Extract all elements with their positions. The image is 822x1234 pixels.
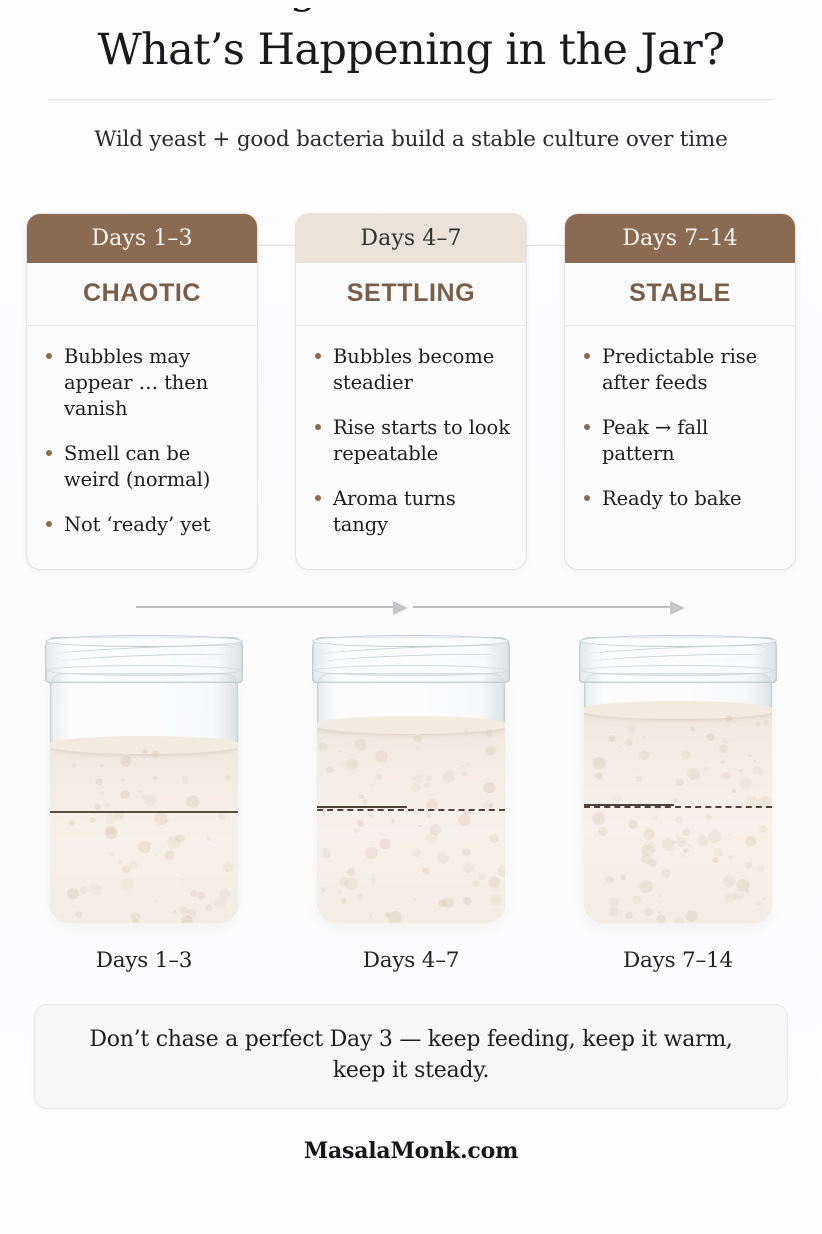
- bubble: [388, 910, 402, 923]
- bubble: [426, 811, 432, 817]
- brand-watermark: MasalaMonk.com: [0, 1138, 822, 1164]
- arrow-right-icon: [136, 601, 408, 613]
- bubble: [683, 847, 689, 853]
- bullet-dot-icon: [584, 495, 590, 501]
- bubble: [478, 872, 486, 880]
- bubble: [753, 759, 756, 762]
- bubble: [653, 815, 658, 820]
- bullet-dot-icon: [46, 353, 52, 359]
- arrow-shaft: [413, 606, 671, 607]
- bubble: [326, 765, 335, 774]
- bullet-dot-icon: [584, 424, 590, 430]
- bubble: [644, 907, 653, 916]
- bubble: [627, 724, 636, 733]
- bubble: [708, 829, 722, 843]
- list-item: Not ‘ready’ yet: [44, 512, 241, 538]
- bubble: [186, 794, 200, 808]
- bubble: [739, 768, 743, 772]
- page-subtitle: Wild yeast + good bacteria build a stabl…: [0, 127, 822, 152]
- bubble: [483, 781, 495, 793]
- bubble: [674, 916, 684, 924]
- bubble: [648, 858, 657, 867]
- bubble: [472, 879, 480, 887]
- bubble: [620, 873, 627, 880]
- bubble: [219, 887, 232, 900]
- bubble: [333, 728, 336, 731]
- bubble: [733, 719, 736, 722]
- bubble: [687, 767, 700, 780]
- stage-card-status-label: STABLE: [565, 263, 795, 326]
- bubble: [120, 789, 130, 799]
- bubble: [143, 793, 156, 806]
- bubble: [411, 782, 421, 792]
- bubble: [89, 816, 96, 823]
- bubble: [733, 888, 745, 900]
- jar-image-day4-7: [303, 629, 519, 929]
- bubble: [365, 846, 378, 859]
- bubble: [628, 819, 638, 829]
- bubble: [605, 875, 614, 884]
- bubble: [639, 749, 650, 760]
- arrow-shaft: [136, 606, 394, 607]
- list-item: Bubbles may appear … then vanish: [44, 344, 241, 422]
- bubble: [757, 864, 765, 872]
- title-clipped-line: Sourdough Starter Timeline: [0, 8, 822, 22]
- jar-caption: Days 4–7: [295, 948, 527, 973]
- bubble: [413, 897, 418, 902]
- stage-card-days-header: Days 7–14: [565, 214, 795, 263]
- bubble: [323, 850, 330, 857]
- arrow-right-icon: [413, 601, 685, 613]
- bubble: [197, 890, 206, 899]
- stage-card-days-header: Days 1–3: [27, 214, 257, 263]
- bubble: [598, 826, 608, 836]
- bubble: [118, 859, 124, 865]
- list-item: Predictable rise after feeds: [582, 344, 779, 396]
- jar-illustrations: Days 1–3 Days 4–7: [0, 629, 822, 973]
- bubble: [371, 877, 376, 882]
- starter-level-marker: [50, 811, 238, 813]
- bubble: [643, 828, 655, 840]
- bubble: [71, 762, 77, 768]
- list-item-text: Smell can be weird (normal): [64, 442, 210, 491]
- bubble: [759, 824, 769, 834]
- bullet-dot-icon: [315, 353, 321, 359]
- bubble: [67, 887, 79, 899]
- header: Sourdough Starter Timeline What’s Happen…: [0, 0, 822, 152]
- bubble: [745, 835, 756, 846]
- bullet-dot-icon: [584, 353, 590, 359]
- stage-card-settling[interactable]: Days 4–7 SETTLING Bubbles become steadie…: [296, 214, 526, 569]
- bubble: [120, 777, 125, 782]
- bubble: [720, 759, 726, 765]
- bubble: [675, 815, 683, 823]
- stage-cards-section: Days 1–3 CHAOTIC Bubbles may appear … th…: [0, 214, 822, 569]
- bubble: [318, 741, 328, 751]
- bubble: [748, 753, 752, 757]
- bubble: [79, 885, 88, 894]
- bubble: [206, 836, 211, 841]
- bullet-dot-icon: [315, 424, 321, 430]
- bubble: [639, 879, 653, 893]
- bubble: [205, 903, 213, 911]
- stage-card-chaotic[interactable]: Days 1–3 CHAOTIC Bubbles may appear … th…: [27, 214, 257, 569]
- stage-cards: Days 1–3 CHAOTIC Bubbles may appear … th…: [27, 214, 795, 569]
- bubble: [612, 794, 623, 805]
- bubble: [142, 748, 148, 754]
- list-item-text: Bubbles become steadier: [333, 345, 494, 394]
- bubble: [346, 757, 358, 769]
- bubble: [415, 745, 420, 750]
- bubble: [425, 774, 432, 781]
- starter-culture-fill: [584, 708, 772, 923]
- bubble: [681, 853, 685, 857]
- bubble: [673, 797, 678, 802]
- jar-caption: Days 7–14: [562, 948, 794, 973]
- stage-card-bullet-list: Predictable rise after feeds Peak → fall…: [565, 326, 795, 569]
- bubble: [129, 860, 138, 869]
- bubble: [490, 893, 502, 905]
- bubble: [224, 773, 231, 780]
- bubble: [362, 798, 368, 804]
- bubble: [719, 743, 729, 753]
- bubble: [109, 851, 115, 857]
- bubble: [642, 734, 647, 739]
- bubble: [180, 877, 184, 881]
- list-item: Bubbles become steadier: [313, 344, 510, 396]
- list-item-text: Predictable rise after feeds: [602, 345, 757, 394]
- title-above-text: Sourdough Starter Timeline: [0, 8, 822, 10]
- bubble: [488, 875, 501, 888]
- list-item: Rise starts to look repeatable: [313, 415, 510, 467]
- bubble: [370, 813, 374, 817]
- bubble: [732, 788, 737, 793]
- bubble: [182, 775, 188, 781]
- bubble: [697, 834, 709, 846]
- jar-column-day4-7: Days 4–7: [295, 629, 527, 973]
- bubble: [138, 840, 151, 853]
- bubble: [105, 826, 118, 839]
- bubble: [713, 847, 723, 857]
- bubble: [412, 847, 422, 857]
- bubble: [375, 773, 382, 780]
- bubble: [658, 893, 663, 898]
- jar-column-day7-14: Days 7–14: [562, 629, 794, 973]
- list-item-text: Aroma turns tangy: [333, 487, 456, 536]
- list-item: Aroma turns tangy: [313, 486, 510, 538]
- starter-level-marker: [317, 809, 505, 811]
- bubble: [723, 874, 736, 887]
- bubble: [357, 819, 364, 826]
- starter-level-marker: [584, 806, 772, 808]
- bubble: [485, 744, 497, 756]
- bubble: [625, 737, 634, 746]
- bubble: [120, 877, 134, 891]
- bubble: [353, 827, 359, 833]
- bubble: [462, 770, 468, 776]
- bubble: [154, 853, 158, 857]
- bubble: [485, 728, 494, 737]
- header-divider: [48, 99, 774, 100]
- infographic-page: Sourdough Starter Timeline What’s Happen…: [0, 0, 822, 1234]
- bubble: [369, 913, 372, 916]
- bubble: [341, 897, 348, 904]
- bubble: [337, 889, 342, 894]
- bubble: [438, 898, 447, 907]
- bubble: [391, 818, 396, 823]
- bubble: [347, 867, 355, 875]
- bubble: [703, 765, 708, 770]
- starter-culture-fill: [317, 723, 505, 923]
- bubble: [164, 818, 168, 822]
- bubble: [596, 771, 604, 779]
- jar-column-day1-3: Days 1–3: [28, 629, 260, 973]
- bubble: [641, 843, 654, 856]
- bubble: [173, 909, 176, 912]
- bubble: [632, 894, 643, 905]
- bubble: [321, 886, 327, 892]
- footer-note: Don’t chase a perfect Day 3 — keep feedi…: [34, 1004, 788, 1109]
- bubble: [104, 801, 110, 807]
- bubble: [414, 773, 424, 783]
- bubble: [675, 777, 684, 786]
- bubble: [661, 868, 671, 878]
- bubble: [356, 892, 363, 899]
- bubble: [370, 783, 374, 787]
- bubble: [656, 913, 666, 923]
- stage-card-status-label: CHAOTIC: [27, 263, 257, 326]
- bubble: [94, 803, 101, 810]
- list-item: Ready to bake: [582, 486, 779, 512]
- jar-image-day1-3: [36, 629, 252, 929]
- list-item-text: Rise starts to look repeatable: [333, 416, 510, 465]
- bullet-dot-icon: [46, 450, 52, 456]
- bubble: [152, 775, 157, 780]
- bubble: [763, 896, 767, 900]
- page-title: What’s Happening in the Jar?: [0, 24, 822, 76]
- bubble: [489, 833, 499, 843]
- bubble: [75, 910, 83, 918]
- bubble: [463, 862, 473, 872]
- stage-card-stable[interactable]: Days 7–14 STABLE Predictable rise after …: [565, 214, 795, 569]
- bubble: [375, 749, 388, 762]
- bubble: [592, 811, 605, 824]
- bubble: [95, 777, 103, 785]
- bubble: [414, 734, 422, 742]
- bubble: [497, 864, 505, 877]
- bubble: [100, 763, 105, 768]
- bubble: [68, 819, 75, 826]
- bubble: [418, 824, 422, 828]
- bubble: [608, 906, 619, 917]
- arrow-head: [393, 601, 408, 615]
- bubble: [745, 861, 752, 868]
- bubble: [151, 749, 160, 758]
- bubble: [728, 833, 731, 836]
- list-item-text: Peak → fall pattern: [602, 416, 708, 465]
- bubble: [462, 764, 465, 767]
- bubble: [339, 876, 349, 886]
- bubble: [662, 837, 675, 850]
- jar-image-day7-14: [570, 629, 786, 929]
- bubble: [608, 734, 616, 742]
- bubble: [464, 729, 468, 733]
- bubble: [739, 776, 753, 790]
- bullet-dot-icon: [46, 521, 52, 527]
- stage-card-bullet-list: Bubbles may appear … then vanish Smell c…: [27, 326, 257, 569]
- progression-arrows: [0, 583, 822, 627]
- bubble: [706, 732, 716, 742]
- bubble: [755, 720, 762, 727]
- bubble: [721, 771, 731, 781]
- bubble: [225, 868, 229, 872]
- bubble: [154, 898, 159, 903]
- bubble: [424, 781, 432, 789]
- bubble: [763, 719, 769, 725]
- bubble: [181, 914, 192, 923]
- stage-card-status-label: SETTLING: [296, 263, 526, 326]
- bubble: [725, 714, 733, 722]
- bubble: [120, 754, 133, 767]
- bubble: [89, 883, 102, 896]
- list-item-text: Ready to bake: [602, 487, 742, 510]
- bubble-texture: [50, 743, 238, 923]
- bubble: [760, 714, 764, 718]
- bubble: [100, 790, 105, 795]
- bubble: [164, 849, 175, 860]
- bubble-texture: [584, 708, 772, 923]
- list-item-text: Bubbles may appear … then vanish: [64, 345, 208, 420]
- bubble: [179, 905, 188, 914]
- bubble: [437, 851, 449, 863]
- bubble: [429, 823, 441, 835]
- bubble: [690, 725, 695, 730]
- bubble: [458, 813, 471, 826]
- bubble: [466, 762, 470, 766]
- bubble: [681, 749, 691, 759]
- bubble: [705, 813, 712, 820]
- bubble: [728, 854, 733, 859]
- bubble: [379, 838, 391, 850]
- bubble: [618, 745, 621, 748]
- bubble: [752, 765, 763, 776]
- bubble: [442, 769, 455, 782]
- list-item: Peak → fall pattern: [582, 415, 779, 467]
- starter-culture-fill: [50, 743, 238, 923]
- bubble: [685, 909, 698, 922]
- bubble: [676, 833, 679, 836]
- bubble: [167, 835, 181, 849]
- stage-card-days-header: Days 4–7: [296, 214, 526, 263]
- jar-glass-body: [50, 673, 238, 923]
- bubble: [462, 847, 471, 856]
- bubble: [132, 917, 138, 923]
- bubble: [592, 756, 606, 770]
- bubble: [338, 749, 341, 752]
- bullet-dot-icon: [315, 495, 321, 501]
- bubble: [354, 737, 367, 750]
- list-item-text: Not ‘ready’ yet: [64, 513, 210, 536]
- jar-glass-body: [584, 673, 772, 923]
- stage-card-bullet-list: Bubbles become steadier Rise starts to l…: [296, 326, 526, 569]
- bubble: [682, 828, 690, 836]
- arrow-head: [670, 601, 685, 615]
- jar-glass-body: [317, 673, 505, 923]
- jar-caption: Days 1–3: [28, 948, 260, 973]
- bubble: [625, 910, 634, 919]
- bubble: [422, 866, 430, 874]
- bubble-texture: [317, 723, 505, 923]
- bubble: [756, 900, 762, 906]
- list-item: Smell can be weird (normal): [44, 441, 241, 493]
